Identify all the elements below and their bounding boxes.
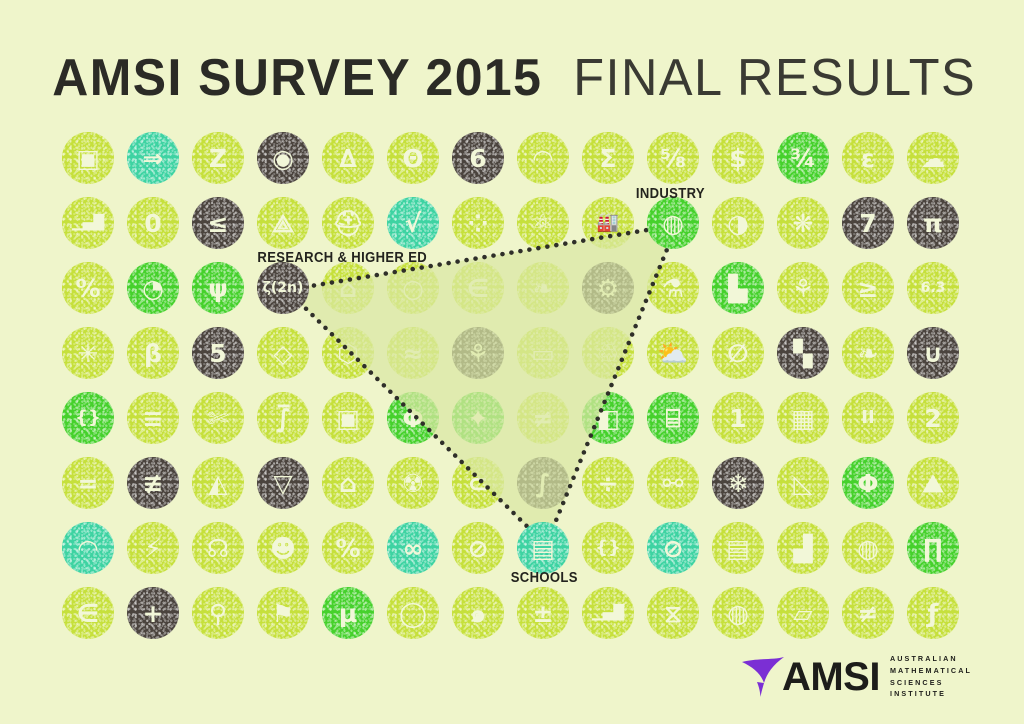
divide-icon-glyph: ÷: [598, 471, 619, 496]
node-label-schools: SCHOOLS: [511, 570, 578, 586]
truck-icon: ▤: [712, 522, 764, 574]
signpost-icon-glyph: ⚑: [272, 601, 294, 626]
title-light-part: FINAL RESULTS: [573, 52, 976, 104]
identical-to-icon: ≡: [127, 392, 179, 444]
braces-icon: {}: [62, 392, 114, 444]
laptop-icon-glyph: ▭: [531, 341, 555, 366]
grid-icon-cell: ≠: [842, 587, 894, 639]
bridge-icon-glyph: ◠: [533, 146, 552, 171]
grid-icon-cell: ⁘: [452, 197, 504, 249]
grid-icon-cell: Σ: [582, 132, 634, 184]
grid-icon-cell: ⊘: [452, 522, 504, 574]
eye-icon-glyph: ◉: [272, 146, 294, 171]
page-title: AMSI SURVEY 2015FINAL RESULTS: [0, 52, 1024, 104]
grid-icon-cell: ▁▄█: [582, 587, 634, 639]
grid-icon-cell: ⧖: [647, 587, 699, 639]
grid-icon-cell: Φ: [842, 457, 894, 509]
digit-two-icon-glyph: 2: [924, 406, 941, 431]
identical-to-icon-glyph: ≡: [143, 406, 164, 431]
phi-icon: Φ: [387, 392, 439, 444]
grid-icon-cell: ≠: [517, 392, 569, 444]
grid-icon-cell: ∞: [387, 522, 439, 574]
paper-sheet-icon: ▱: [777, 587, 829, 639]
wave-icon: ≈: [387, 327, 439, 379]
no-entry-icon: ⊘: [647, 522, 699, 574]
grid-icon-cell: ∈: [62, 587, 114, 639]
grid-icon-cell: ψ: [192, 262, 244, 314]
fraction-five-eighths-icon-glyph: ⅝: [660, 146, 686, 171]
grid-icon-cell: ≤: [192, 197, 244, 249]
hourglass-icon-glyph: ⧖: [664, 601, 682, 626]
product-icon: ∏: [907, 522, 959, 574]
no-entry-icon-glyph: ⊘: [663, 536, 684, 561]
open-book-icon: ▤: [517, 522, 569, 574]
empty-set-icon: ∅: [712, 327, 764, 379]
fraction-five-eighths-icon: ⅝: [647, 132, 699, 184]
grid-icon-cell: =: [62, 457, 114, 509]
grid-icon-cell: ⚛: [517, 197, 569, 249]
arrow-right-icon: ⇒: [127, 132, 179, 184]
fireworks-icon-glyph: ❋: [793, 211, 814, 236]
leaf-icon: ❧: [842, 327, 894, 379]
cone-slice-icon-glyph: ◭: [208, 471, 227, 496]
grid-icon-cell: ☢: [387, 457, 439, 509]
tagline-line-2: MATHEMATICAL: [890, 665, 972, 677]
percent-icon-glyph: %: [75, 276, 100, 301]
snowflake-icon-glyph: ❄: [728, 471, 749, 496]
lightning-icon: ⚡: [127, 522, 179, 574]
globe-icon-glyph: ◍: [727, 601, 749, 626]
digit-seven-icon: 7: [842, 197, 894, 249]
grid-icon-cell: ζ(2n): [257, 262, 309, 314]
grid-icon-cell: ⚡: [127, 522, 179, 574]
grid-icon-cell: +: [127, 587, 179, 639]
spiral-icon-glyph: ๑: [470, 601, 486, 626]
grid-icon-cell: ⇒: [127, 132, 179, 184]
pyramid-icon-glyph: ⟁: [272, 211, 294, 236]
zeta-2n-icon-glyph: ζ(2n): [263, 281, 304, 295]
letter-z-icon-glyph: Z: [209, 146, 227, 171]
grid-icon-cell: ◠: [517, 132, 569, 184]
gears-icon: ⚙: [582, 262, 634, 314]
grid-icon-cell: ☻: [257, 522, 309, 574]
phi-icon-glyph: Φ: [857, 471, 878, 496]
hexagons-icon-glyph: ⬡: [337, 341, 359, 366]
phi-icon: Φ: [842, 457, 894, 509]
fireworks-icon: ❋: [777, 197, 829, 249]
digit-six-icon: 6: [452, 132, 504, 184]
grid-icon-cell: β: [127, 327, 179, 379]
grid-icon-cell: ◠: [62, 522, 114, 574]
grid-icon-cell: ▽: [257, 457, 309, 509]
house-chart-icon: ⌂: [322, 262, 374, 314]
grid-icon-cell: ≥: [842, 262, 894, 314]
grid-icon-cell: ∫: [517, 457, 569, 509]
plus-icon-glyph: +: [143, 601, 164, 626]
wifi-icon: ◔: [127, 262, 179, 314]
grid-icon-cell: ≡: [127, 392, 179, 444]
grid-icon-cell: ⌂: [322, 457, 374, 509]
grid-icon-cell: ⌂: [322, 262, 374, 314]
house-icon: ⌂: [322, 457, 374, 509]
grid-icon-cell: 6.3: [907, 262, 959, 314]
grid-icon-cell: 5: [192, 327, 244, 379]
grid-icon-cell: ∈: [452, 262, 504, 314]
nabla-icon-glyph: ▽: [273, 471, 292, 496]
molecule-icon: ⚯: [647, 457, 699, 509]
element-of-icon-glyph: ∈: [77, 601, 99, 626]
digit-one-icon-glyph: 1: [729, 406, 746, 431]
parallel-icon-glyph: II: [861, 409, 874, 427]
wifi-icon-glyph: ◔: [142, 276, 164, 301]
grid-icon-cell: ◺: [777, 457, 829, 509]
scissors-icon: ✄: [192, 392, 244, 444]
braces-icon-glyph: {}: [595, 539, 621, 557]
subset-icon: ⊂: [452, 457, 504, 509]
divide-icon: ÷: [582, 457, 634, 509]
growth-chart-icon: ▚: [777, 327, 829, 379]
cone-slice-icon: ◭: [192, 457, 244, 509]
hexagons-icon: ⬡: [322, 327, 374, 379]
grid-icon-cell: ▱: [777, 587, 829, 639]
particles-icon: ⁘: [452, 197, 504, 249]
cloud-rain-icon: ☁: [907, 132, 959, 184]
grid-icon-cell: ▦: [777, 392, 829, 444]
digit-zero-icon-glyph: 0: [144, 211, 161, 236]
molecule-icon-glyph: ⚯: [663, 471, 684, 496]
icon-grid: ▣⇒Z◉∆Θ6◠Σ⅝$¾ε☁▁▄█0≤⟁⛑√⁘⚛🏭◍◑❋7π%◔ψζ(2n)⌂○…: [62, 132, 962, 632]
amsi-wordmark: AMSI: [782, 657, 880, 697]
cube-box-icon-glyph: ▣: [336, 406, 360, 431]
arrow-right-icon-glyph: ⇒: [143, 146, 164, 171]
grid-icon-cell: ๑: [452, 587, 504, 639]
number-six-point-three-icon-glyph: 6.3: [921, 281, 946, 295]
grid-icon-cell: ⛑: [322, 197, 374, 249]
grid-icon-cell: ▣: [322, 392, 374, 444]
grid-icon-cell: ❋: [777, 197, 829, 249]
atom-icon-glyph: ⚛: [532, 211, 554, 236]
phi-icon-glyph: Φ: [402, 406, 423, 431]
leaf-icon-glyph: ❧: [533, 276, 554, 301]
integral-icon: ∫: [517, 457, 569, 509]
pyramid-icon: ⟁: [257, 197, 309, 249]
grid-icon-cell: ¾: [777, 132, 829, 184]
fraction-three-quarters-icon: ¾: [777, 132, 829, 184]
grid-icon-cell: ⚘: [777, 262, 829, 314]
atom-icon: ⚛: [517, 197, 569, 249]
node-label-industry: INDUSTRY: [636, 186, 705, 202]
grid-icon-cell: ◭: [192, 457, 244, 509]
element-of-icon: ∈: [452, 262, 504, 314]
wave-icon-glyph: ≈: [403, 341, 424, 366]
grid-icon-cell: ○: [387, 262, 439, 314]
grid-icon-cell: ☊: [192, 522, 244, 574]
grid-icon-cell: 🏭: [582, 197, 634, 249]
equals-icon: =: [62, 457, 114, 509]
radioactive-icon: ☢: [387, 457, 439, 509]
title-bold-part: AMSI SURVEY 2015: [52, 52, 542, 104]
theta-icon: Θ: [387, 132, 439, 184]
dollar-sign-icon-glyph: $: [729, 146, 746, 171]
grid-icon-cell: ⚲: [192, 587, 244, 639]
letter-z-icon: Z: [192, 132, 244, 184]
grid-icon-cell: ∪: [907, 327, 959, 379]
less-than-equal-icon: ≤: [192, 197, 244, 249]
tagline-line-1: AUSTRALIAN: [890, 653, 972, 665]
parallel-icon: II: [842, 392, 894, 444]
snowflake-icon: ❄: [712, 457, 764, 509]
integral-bounds-icon-glyph: ⨛: [276, 406, 290, 431]
digit-five-icon-glyph: 5: [209, 341, 226, 366]
bar-chart-icon-glyph: ▁▄█: [72, 216, 104, 230]
plus-minus-icon-glyph: ±: [533, 601, 554, 626]
cube-box-icon: ▣: [322, 392, 374, 444]
grid-icon-cell: ✳: [62, 327, 114, 379]
union-icon-glyph: ∪: [923, 341, 943, 366]
lungs-icon-glyph: ◑: [727, 211, 749, 236]
stethoscope-icon-glyph: ☊: [207, 536, 229, 561]
grid-icon-cell: ⛰: [907, 457, 959, 509]
grid-icon-cell: ⅝: [647, 132, 699, 184]
grid-icon-cell: ▚: [777, 327, 829, 379]
integral-icon-glyph: ∫: [535, 471, 550, 496]
grid-icon-cell: ▤: [712, 522, 764, 574]
grid-icon-cell: ◍: [712, 587, 764, 639]
water-drops-icon: ◇: [257, 327, 309, 379]
greater-than-equal-icon-glyph: ≥: [858, 276, 879, 301]
less-than-equal-icon-glyph: ≤: [208, 211, 229, 236]
grid-icon-cell: Φ: [387, 392, 439, 444]
union-icon: ∪: [907, 327, 959, 379]
cube-box-icon-glyph: ▣: [76, 146, 100, 171]
hard-hat-icon: ⛑: [322, 197, 374, 249]
grid-icon-cell: ▭: [517, 327, 569, 379]
grid-icon-cell: ⟁: [257, 197, 309, 249]
bridge-icon: ◠: [517, 132, 569, 184]
stethoscope-icon: ☊: [192, 522, 244, 574]
truck-icon-glyph: ▤: [726, 536, 750, 561]
calculator-icon-glyph: ▦: [791, 406, 815, 431]
beta-icon-glyph: β: [144, 341, 162, 366]
bar-chart-icon-glyph: ▁▄█: [592, 606, 624, 620]
factory-chart-icon: 🏭: [582, 197, 634, 249]
grid-icon-cell: ✦: [452, 392, 504, 444]
tagline-line-4: INSTITUTE: [890, 688, 972, 700]
node-label-research: RESEARCH & HIGHER ED: [257, 250, 427, 266]
lightning-icon-glyph: ⚡: [144, 536, 162, 561]
grid-icon-cell: ⨛: [257, 392, 309, 444]
grid-icon-cell: ▣: [62, 132, 114, 184]
cube-box-icon: ▣: [62, 132, 114, 184]
head-profile-icon-glyph: ☻: [270, 536, 296, 561]
grid-icon-cell: ☁: [907, 132, 959, 184]
house-chart-icon-glyph: ⌂: [339, 276, 357, 301]
asterisk-star-icon: ✳: [62, 327, 114, 379]
grid-icon-cell: ⬡: [322, 327, 374, 379]
beaker-cylinder-icon: ⌸: [647, 392, 699, 444]
greater-than-equal-icon: ≥: [842, 262, 894, 314]
grid-icon-cell: ⚙: [582, 262, 634, 314]
signpost-icon: ⚑: [257, 587, 309, 639]
plus-minus-icon: ±: [517, 587, 569, 639]
grid-icon-cell: ▤: [517, 522, 569, 574]
delta-icon-glyph: ∆: [339, 146, 356, 171]
empty-set-icon-glyph: ∅: [727, 341, 748, 366]
nabla-icon: ▽: [257, 457, 309, 509]
grid-icon-cell: ✄: [192, 392, 244, 444]
grid-icon-cell: √: [387, 197, 439, 249]
water-drops-icon-glyph: ◇: [273, 341, 292, 366]
grid-icon-cell: ⊘: [647, 522, 699, 574]
grid-icon-cell: 1: [712, 392, 764, 444]
grid-icon-cell: ◑: [712, 197, 764, 249]
grid-icon-cell: II: [842, 392, 894, 444]
grid-icon-cell: π: [907, 197, 959, 249]
radioactive-icon-glyph: ☢: [402, 471, 424, 496]
grid-icon-cell: %: [322, 522, 374, 574]
mu-icon-glyph: μ: [339, 601, 357, 626]
grid-icon-cell: ◧: [582, 392, 634, 444]
grid-icon-cell: ⌸: [647, 392, 699, 444]
grid-icon-cell: ❄: [712, 457, 764, 509]
plus-icon: +: [127, 587, 179, 639]
growth-chart-icon-glyph: ▚: [793, 341, 812, 366]
pi-icon-glyph: π: [923, 211, 943, 236]
integral-bounds-icon: ⨛: [257, 392, 309, 444]
grid-icon-cell: {}: [62, 392, 114, 444]
grid-icon-cell: ∆: [322, 132, 374, 184]
not-equal-slash-icon-glyph: ≠: [858, 601, 879, 626]
hard-hat-icon-glyph: ⛑: [332, 211, 364, 236]
grid-icon-cell: ƒ: [907, 587, 959, 639]
square-root-icon: √: [387, 197, 439, 249]
spiral-icon: ๑: [452, 587, 504, 639]
grid-icon-cell: ◔: [127, 262, 179, 314]
grid-icon-cell: Θ: [387, 132, 439, 184]
globe-icon: ◍: [712, 587, 764, 639]
grid-icon-cell: ÷: [582, 457, 634, 509]
factory-step-icon-glyph: ▟: [793, 536, 812, 561]
recycle-globe-icon: ♲: [582, 327, 634, 379]
dollar-sign-icon: $: [712, 132, 764, 184]
grid-icon-cell: ∏: [907, 522, 959, 574]
grid-icon-cell: 7: [842, 197, 894, 249]
scissors-icon-glyph: ✄: [208, 406, 229, 431]
digit-two-icon: 2: [907, 392, 959, 444]
hourglass-icon: ⧖: [647, 587, 699, 639]
circle-icon: ○: [387, 262, 439, 314]
triangle-ruler-icon: ◺: [777, 457, 829, 509]
grid-icon-cell: $: [712, 132, 764, 184]
percent-icon: %: [62, 262, 114, 314]
digit-five-icon: 5: [192, 327, 244, 379]
theta-icon-glyph: Θ: [402, 146, 423, 171]
square-root-icon-glyph: √: [405, 211, 422, 236]
weather-sun-cloud-icon-glyph: ⛅: [657, 341, 688, 366]
not-equal-slash-icon: ≠: [842, 587, 894, 639]
not-equal-slash-icon-glyph: ≠: [533, 406, 554, 431]
element-of-icon: ∈: [62, 587, 114, 639]
grid-icon-cell: ≈: [387, 327, 439, 379]
digit-zero-icon: 0: [127, 197, 179, 249]
bridge-arch-icon: ◠: [62, 522, 114, 574]
grid-icon-cell: ▟: [777, 522, 829, 574]
gears-icon-glyph: ⚙: [597, 276, 619, 301]
grid-icon-cell: ⚯: [647, 457, 699, 509]
fraction-three-quarters-icon-glyph: ¾: [790, 146, 816, 171]
grid-icon-cell: ◇: [257, 327, 309, 379]
globe-icon: ◍: [842, 522, 894, 574]
house-icon-glyph: ⌂: [339, 471, 357, 496]
grid-icon-cell: ❧: [842, 327, 894, 379]
grid-icon-cell: ε: [842, 132, 894, 184]
person-arms-up-icon-glyph: ψ: [208, 276, 228, 301]
grid-icon-cell: ⚗: [647, 262, 699, 314]
braces-icon-glyph: {}: [75, 409, 101, 427]
particles-icon-glyph: ⁘: [468, 211, 489, 236]
grid-icon-cell: ❧: [517, 262, 569, 314]
amsi-tagline: AUSTRALIAN MATHEMATICAL SCIENCES INSTITU…: [890, 653, 972, 700]
sigma-icon-glyph: Σ: [599, 146, 616, 171]
mountains-icon: ⛰: [907, 457, 959, 509]
open-book-icon-glyph: ▤: [531, 536, 555, 561]
grid-icon-cell: ▁▄█: [62, 197, 114, 249]
leaf-icon-glyph: ❧: [858, 341, 879, 366]
tagline-line-3: SCIENCES: [890, 677, 972, 689]
grid-icon-cell: ±: [517, 587, 569, 639]
weather-sun-cloud-icon: ⛅: [647, 327, 699, 379]
asterisk-star-icon-glyph: ✳: [78, 341, 99, 366]
grid-icon-cell: %: [62, 262, 114, 314]
star-node-icon-glyph: ✦: [468, 406, 489, 431]
mountains-icon-glyph: ⛰: [922, 471, 943, 496]
element-of-icon-glyph: ∈: [467, 276, 489, 301]
grid-icon-cell: ⚑: [257, 587, 309, 639]
triangle-ruler-icon-glyph: ◺: [793, 471, 812, 496]
eye-icon: ◉: [257, 132, 309, 184]
grid-icon-cell: ◍: [647, 197, 699, 249]
epsilon-icon: ε: [842, 132, 894, 184]
calculator-icon: ▦: [777, 392, 829, 444]
person-standing-icon: ⚲: [192, 587, 244, 639]
city-chart-icon: ▙: [712, 262, 764, 314]
subset-icon-glyph: ⊂: [468, 471, 489, 496]
grid-icon-cell: μ: [322, 587, 374, 639]
grid-icon-cell: {}: [582, 522, 634, 574]
grid-icon-cell: ♲: [582, 327, 634, 379]
grid-icon-cell: ⊂: [452, 457, 504, 509]
sigma-icon: Σ: [582, 132, 634, 184]
globe-network-icon-glyph: ◍: [662, 211, 684, 236]
grid-icon-cell: 6: [452, 132, 504, 184]
grid-icon-cell: ▙: [712, 262, 764, 314]
equals-icon-glyph: =: [78, 471, 99, 496]
circle-icon-glyph: ○: [402, 276, 424, 301]
lungs-icon: ◑: [712, 197, 764, 249]
grid-icon-cell: 0: [127, 197, 179, 249]
celebrate-person-icon: ⚘: [777, 262, 829, 314]
celebrate-person-icon-glyph: ⚘: [792, 276, 814, 301]
factory-chart-icon-glyph: 🏭: [597, 214, 619, 232]
head-profile-icon: ☻: [257, 522, 309, 574]
microscope-icon: ⚗: [647, 262, 699, 314]
grid-icon-cell: ◍: [842, 522, 894, 574]
function-f-icon: ƒ: [907, 587, 959, 639]
globe-icon-glyph: ◍: [857, 536, 879, 561]
number-six-point-three-icon: 6.3: [907, 262, 959, 314]
pill-capsule-icon: ⊘: [452, 522, 504, 574]
beaker-cylinder-icon-glyph: ⌸: [665, 406, 680, 431]
